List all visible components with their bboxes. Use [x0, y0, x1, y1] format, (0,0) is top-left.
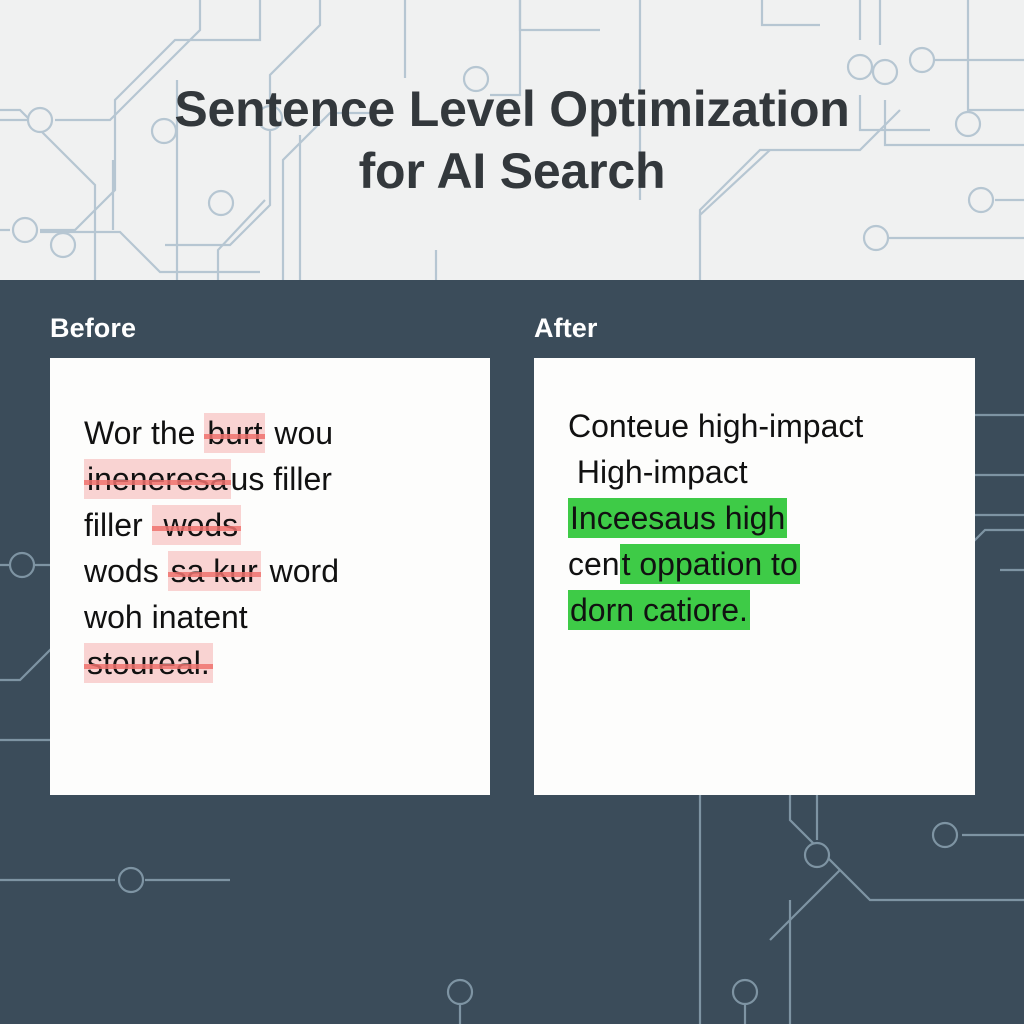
before-line: stoureal. [84, 640, 460, 686]
page-title-line-1: Sentence Level Optimization [174, 78, 849, 140]
before-plain-text: Wor the [84, 415, 204, 451]
comparison-section: Before Wor the burt wouineneresaus fille… [0, 280, 1024, 1024]
before-plain-text: woh inatent [84, 599, 248, 635]
before-line: Wor the burt wou [84, 410, 460, 456]
before-plain-text: wods [84, 553, 168, 589]
page-title-line-2: for AI Search [359, 140, 666, 202]
before-plain-text: word [261, 553, 339, 589]
after-card: Conteue high-impact High-impactInceesaus… [534, 358, 975, 795]
after-card-text: Conteue high-impact High-impactInceesaus… [568, 403, 945, 633]
before-removed-text: stoureal. [84, 643, 213, 683]
after-panel: After Conteue high-impact High-impactInc… [534, 313, 975, 795]
before-removed-text: sa kur [168, 551, 261, 591]
before-card: Wor the burt wouineneresaus fillerfiller… [50, 358, 490, 795]
before-removed-text: wods [152, 505, 242, 545]
header-band: Sentence Level Optimization for AI Searc… [0, 0, 1024, 280]
before-label: Before [50, 313, 490, 344]
after-added-text: Inceesaus high [568, 498, 787, 538]
infographic-canvas: Sentence Level Optimization for AI Searc… [0, 0, 1024, 1024]
before-line: woh inatent [84, 594, 460, 640]
after-line: High-impact [568, 449, 945, 495]
before-removed-text: burt [204, 413, 265, 453]
after-plain-text: cen [568, 546, 620, 582]
before-line: filler wods [84, 502, 460, 548]
before-panel: Before Wor the burt wouineneresaus fille… [50, 313, 490, 795]
before-line: ineneresaus filler [84, 456, 460, 502]
after-plain-text: High-impact [568, 454, 748, 490]
after-line: dorn catiore. [568, 587, 945, 633]
after-added-text: dorn catiore. [568, 590, 750, 630]
after-added-text: t oppation to [620, 544, 800, 584]
after-line: Conteue high-impact [568, 403, 945, 449]
after-line: Inceesaus high [568, 495, 945, 541]
before-removed-text: ineneresa [84, 459, 231, 499]
before-plain-text: us filler [231, 461, 332, 497]
before-card-text: Wor the burt wouineneresaus fillerfiller… [84, 410, 460, 686]
before-line: wods sa kur word [84, 548, 460, 594]
after-line: cent oppation to [568, 541, 945, 587]
before-plain-text: filler [84, 507, 152, 543]
before-plain-text: wou [265, 415, 333, 451]
page-title: Sentence Level Optimization for AI Searc… [0, 0, 1024, 280]
after-plain-text: Conteue high-impact [568, 408, 863, 444]
after-label: After [534, 313, 975, 344]
